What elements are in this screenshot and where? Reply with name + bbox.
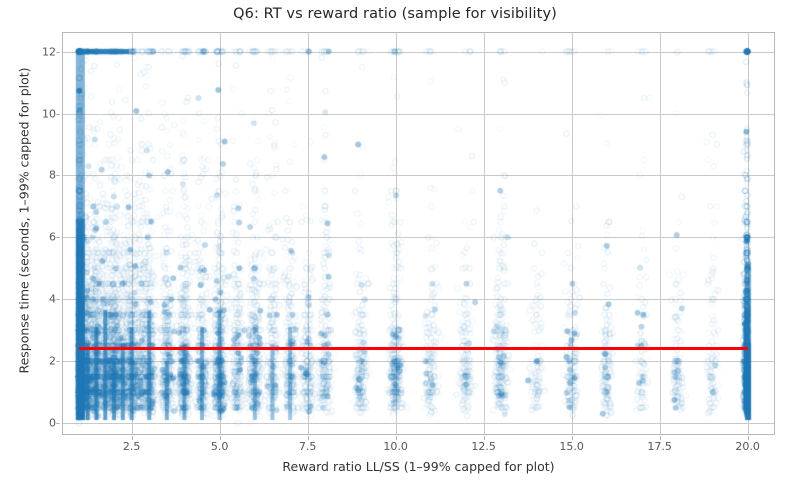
x-axis-label: Reward ratio LL/SS (1–99% capped for plo…	[62, 459, 775, 474]
x-tick-mark	[660, 436, 661, 440]
x-tick-label: 7.5	[278, 440, 338, 453]
y-tick-mark	[56, 423, 60, 424]
y-tick-mark	[56, 299, 60, 300]
x-tick-mark	[396, 436, 397, 440]
x-tick-mark	[572, 436, 573, 440]
x-tick-label: 2.5	[102, 440, 162, 453]
x-tick-label: 15.0	[542, 440, 602, 453]
chart-figure: Q6: RT vs reward ratio (sample for visib…	[0, 0, 790, 490]
mean-response-time-line	[79, 347, 748, 350]
x-tick-mark	[220, 436, 221, 440]
y-tick-label: 8	[6, 169, 56, 182]
y-tick-mark	[56, 237, 60, 238]
y-tick-label: 10	[6, 107, 56, 120]
x-axis-tick-labels: 2.55.07.510.012.515.017.520.0	[62, 440, 775, 460]
x-tick-mark	[308, 436, 309, 440]
x-tick-label: 12.5	[454, 440, 514, 453]
y-axis-tick-labels: 024681012	[0, 32, 56, 435]
x-tick-label: 10.0	[366, 440, 426, 453]
x-tick-label: 20.0	[718, 440, 778, 453]
plot-area	[62, 32, 775, 435]
chart-title: Q6: RT vs reward ratio (sample for visib…	[0, 6, 790, 22]
y-tick-mark	[56, 361, 60, 362]
x-tick-label: 5.0	[190, 440, 250, 453]
y-tick-label: 0	[6, 417, 56, 430]
x-tick-mark	[132, 436, 133, 440]
y-tick-label: 6	[6, 231, 56, 244]
y-tick-mark	[56, 52, 60, 53]
scatter-points	[63, 33, 774, 434]
y-tick-label: 12	[6, 45, 56, 58]
y-tick-label: 2	[6, 355, 56, 368]
x-tick-mark	[484, 436, 485, 440]
x-tick-label: 17.5	[630, 440, 690, 453]
y-tick-mark	[56, 175, 60, 176]
y-tick-label: 4	[6, 293, 56, 306]
x-tick-mark	[748, 436, 749, 440]
y-tick-mark	[56, 114, 60, 115]
